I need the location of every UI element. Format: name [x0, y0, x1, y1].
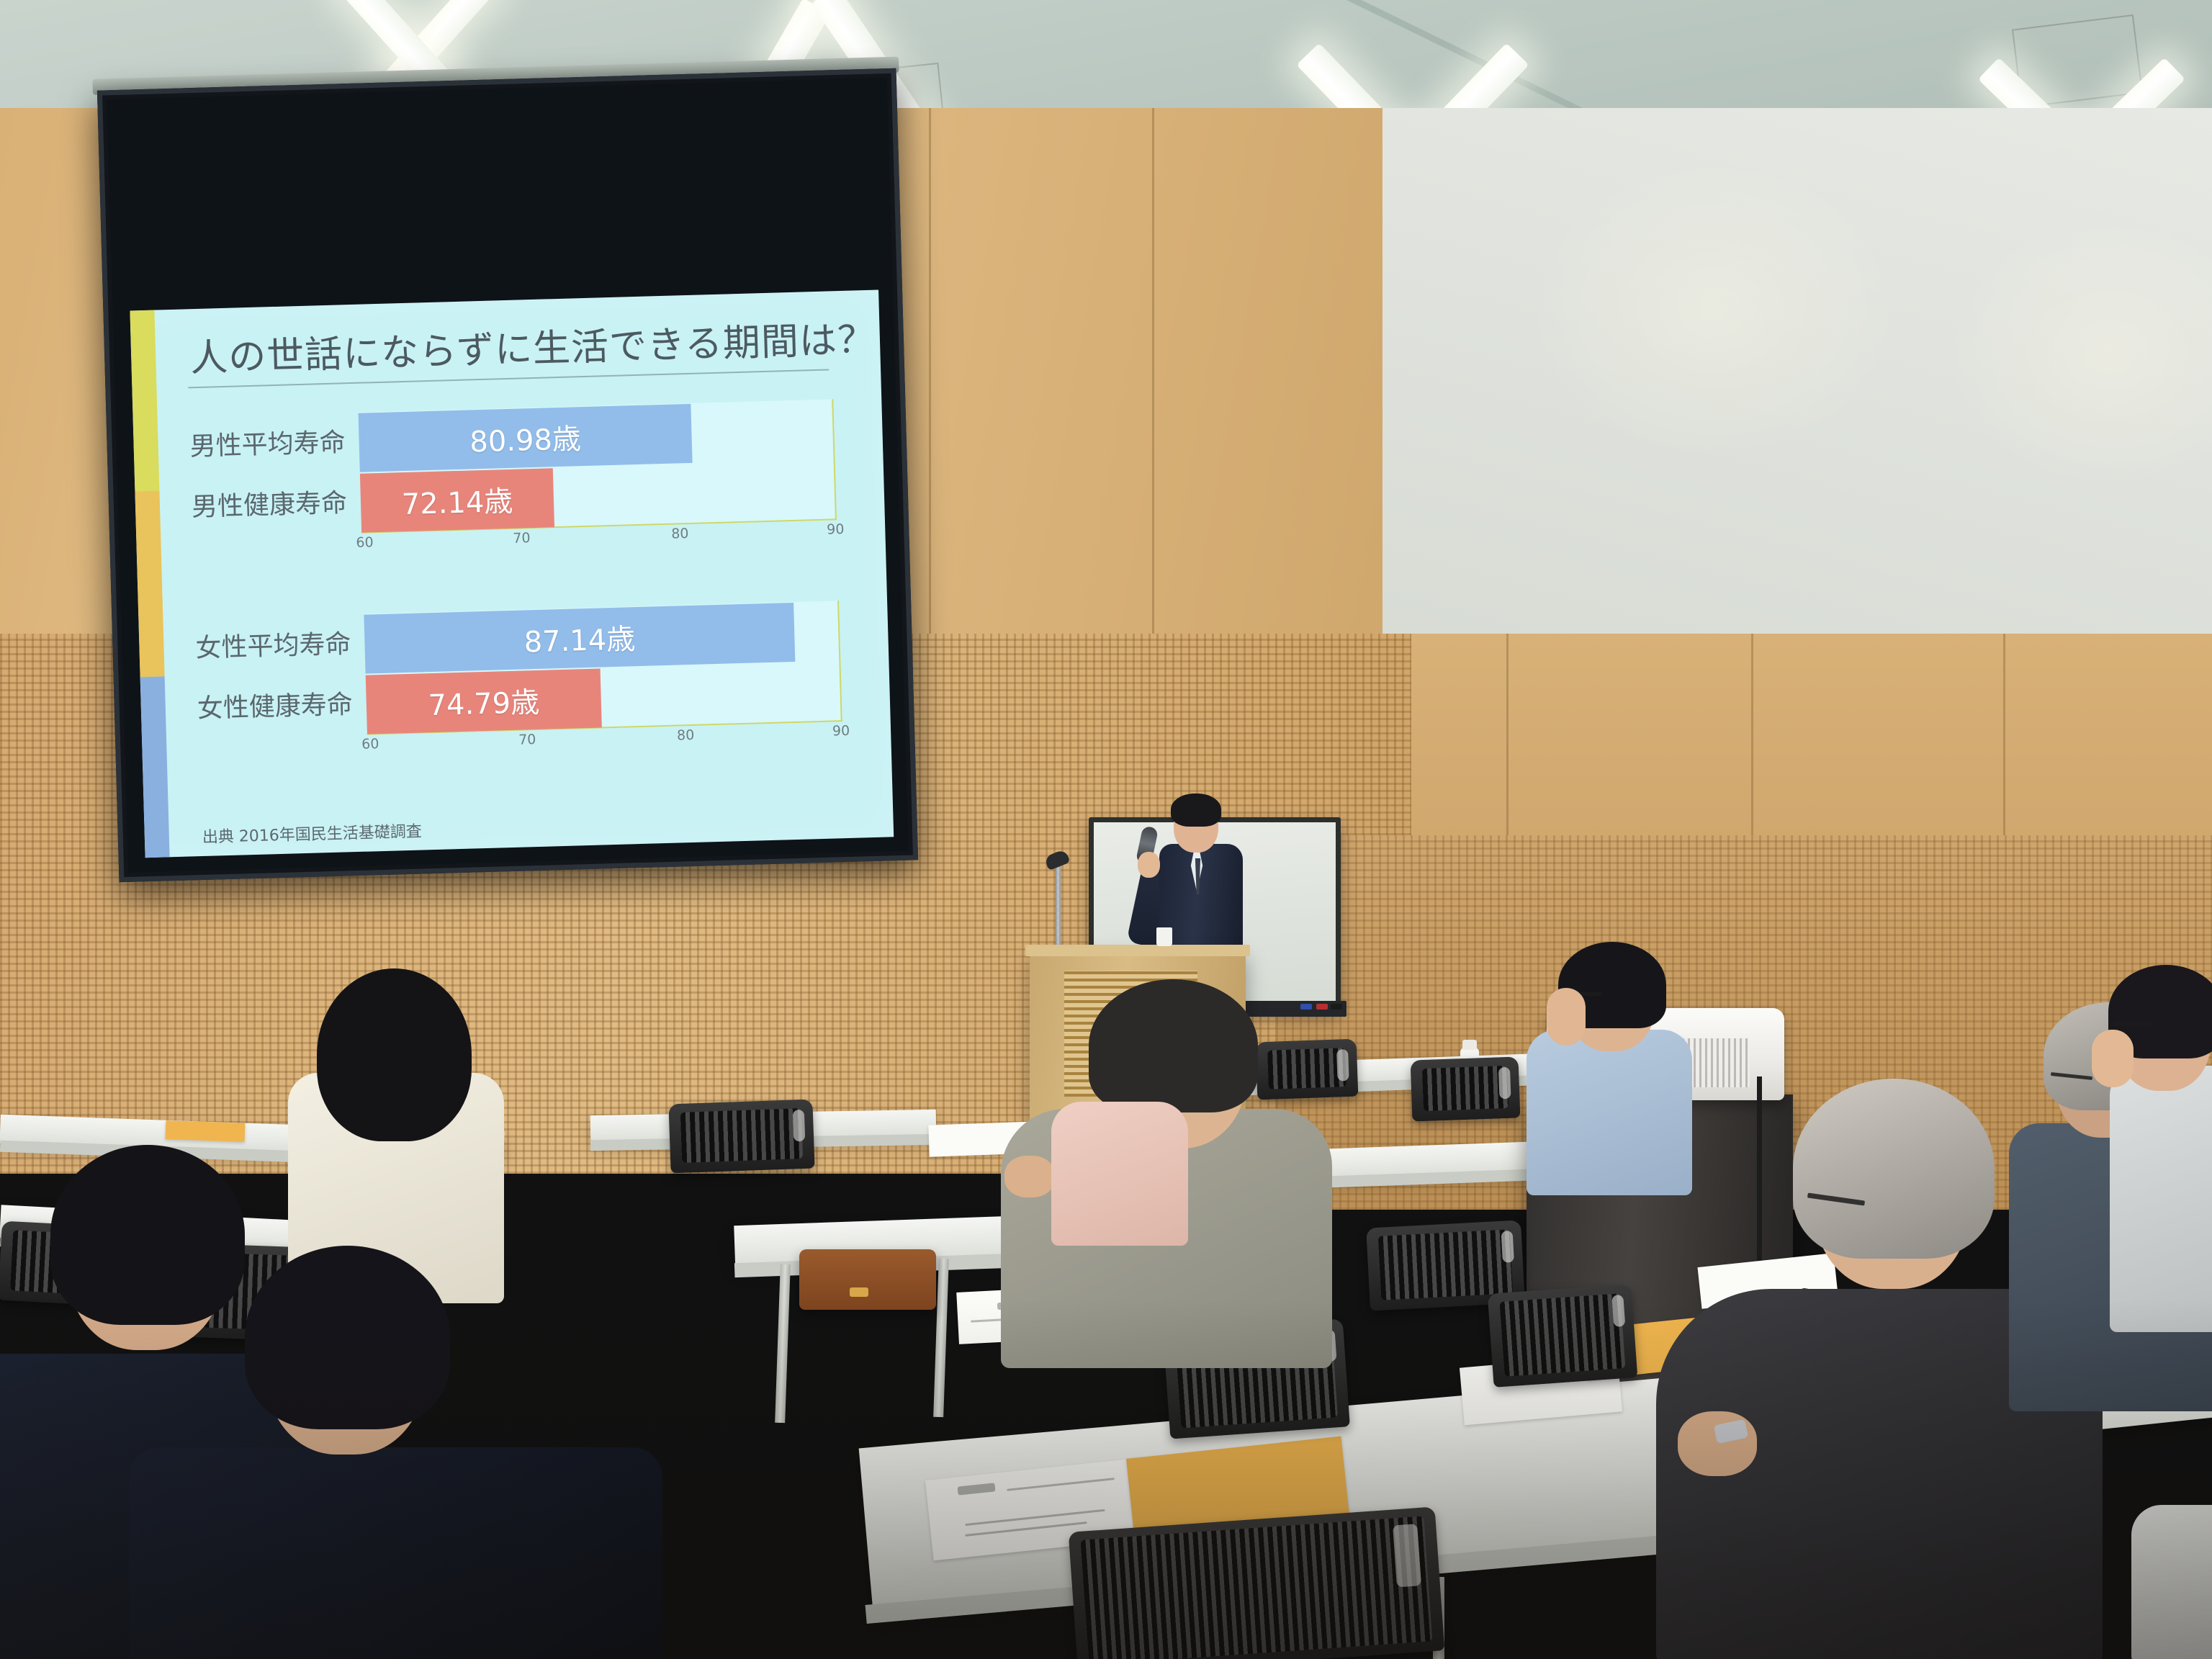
chart-panel-female: 女性平均寿命 女性健康寿命 87.14歳 74.79歳 60 70	[194, 601, 850, 619]
category-label: 女性平均寿命	[194, 614, 358, 679]
briefcase-latch	[850, 1287, 868, 1297]
water-cup	[1156, 927, 1172, 946]
axis-tick: 90	[832, 723, 850, 739]
axis-tick: 80	[677, 727, 695, 744]
bar-female-healthy: 74.79歳	[366, 669, 602, 734]
screen-frame: 人の世話にならずに生活できる期間は？ 男性平均寿命 男性健康寿命 80.98歳 …	[97, 68, 918, 883]
bar-female-average: 87.14歳	[364, 603, 795, 674]
bar-value-label: 72.14歳	[401, 478, 513, 523]
chair	[668, 1100, 814, 1174]
briefcase	[799, 1249, 936, 1310]
axis-tick: 80	[671, 526, 689, 542]
bar-male-healthy: 72.14歳	[360, 468, 554, 532]
plot-area-female: 87.14歳 74.79歳	[364, 601, 842, 734]
projected-slide: 人の世話にならずに生活できる期間は？ 男性平均寿命 男性健康寿命 80.98歳 …	[130, 290, 894, 858]
bar-value-label: 74.79歳	[428, 679, 540, 724]
marker-blue	[1300, 1004, 1312, 1010]
axis-tick: 90	[827, 521, 845, 538]
bar-male-average: 80.98歳	[359, 404, 693, 472]
chair	[1069, 1506, 1445, 1659]
category-label: 女性健康寿命	[197, 675, 360, 739]
speaker-hair	[1171, 793, 1221, 827]
marker-red	[1316, 1004, 1328, 1010]
category-label: 男性平均寿命	[189, 413, 353, 477]
axis-tick: 70	[513, 530, 531, 547]
lecture-room-scene: 人の世話にならずに生活できる期間は？ 男性平均寿命 男性健康寿命 80.98歳 …	[0, 0, 2212, 1659]
category-labels-male: 男性平均寿命 男性健康寿命	[189, 413, 355, 538]
category-label: 男性健康寿命	[191, 473, 354, 538]
handout-orange	[166, 1120, 246, 1142]
lectern-top	[1025, 945, 1250, 956]
marker-black	[1331, 1004, 1342, 1010]
bottle-cap	[1462, 1040, 1477, 1050]
chair	[1411, 1056, 1521, 1121]
table-leg	[775, 1264, 791, 1423]
plot-area-male: 80.98歳 72.14歳	[358, 399, 836, 533]
speaker-hand	[1138, 852, 1160, 878]
projection-screen: 人の世話にならずに生活できる期間は？ 男性平均寿命 男性健康寿命 80.98歳 …	[97, 68, 918, 883]
axis-tick: 60	[361, 736, 379, 752]
bar-value-label: 87.14歳	[523, 616, 636, 660]
bar-value-label: 80.98歳	[469, 415, 582, 460]
chair	[1488, 1284, 1638, 1388]
axis-tick: 60	[356, 534, 374, 551]
chair	[1256, 1039, 1359, 1100]
microphone-stand	[1056, 857, 1061, 950]
category-labels-female: 女性平均寿命 女性健康寿命	[194, 614, 360, 739]
axis-tick: 70	[518, 732, 536, 748]
chart-panel-male: 男性平均寿命 男性健康寿命 80.98歳 72.14歳 60 70	[189, 399, 845, 417]
slide-source-citation: 出典 2016年国民生活基礎調査	[202, 819, 422, 848]
